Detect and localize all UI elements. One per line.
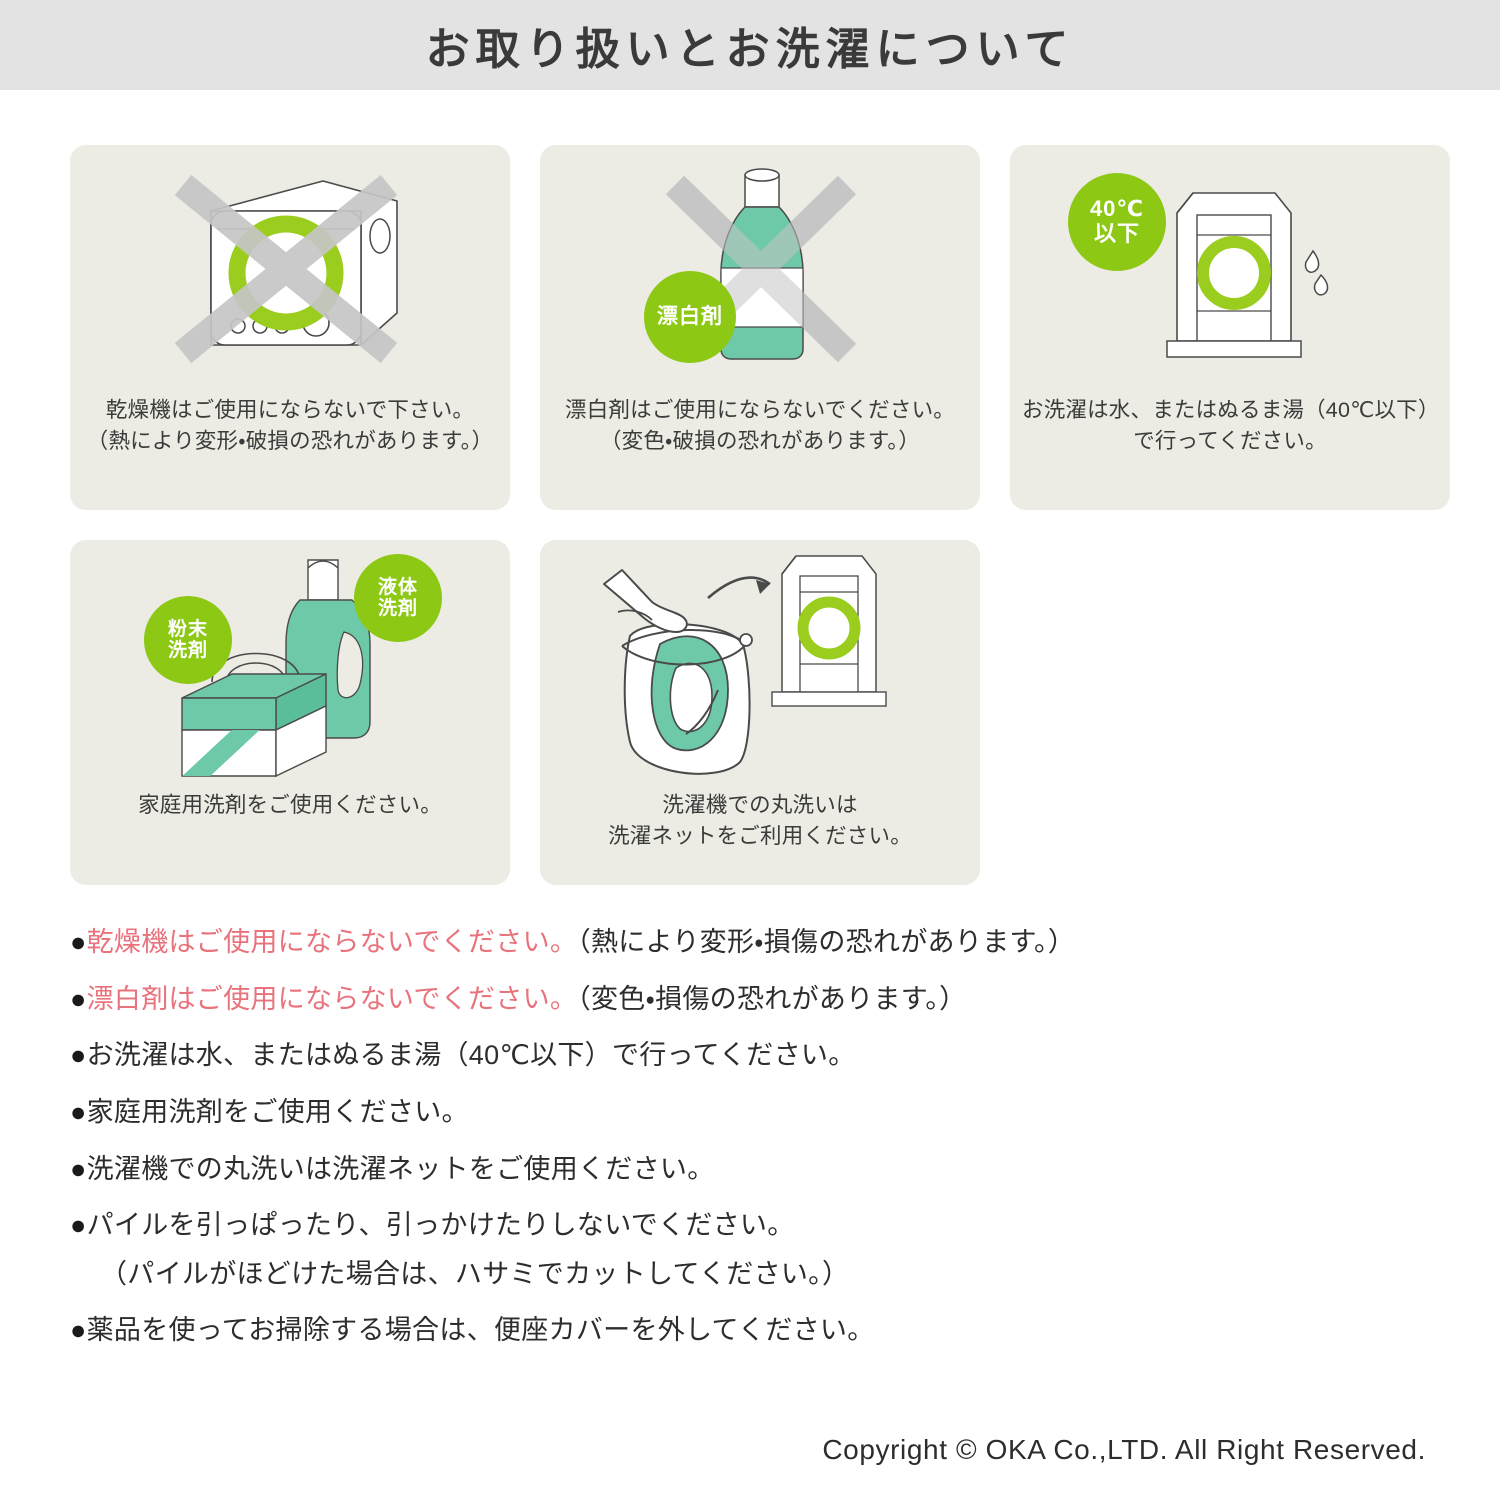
caption-line: お洗濯は水、またはぬるま湯（40℃以下） bbox=[1022, 395, 1438, 426]
badge-line: 洗剤 bbox=[168, 640, 208, 661]
bleach-bottle-crossed-out-icon: 漂白剤 bbox=[540, 145, 980, 395]
caption-line: 洗濯機での丸洗いは bbox=[608, 790, 912, 821]
list-item: ●漂白剤はご使用にならないでください。（変色・損傷の恐れがあります。） bbox=[70, 982, 1430, 1018]
bullet-dot: ● bbox=[70, 1315, 87, 1345]
list-item: ●家庭用洗剤をご使用ください。 bbox=[70, 1095, 1430, 1131]
bullet-warning-text: 乾燥機はご使用にならないでください。 bbox=[87, 927, 578, 957]
bullet-text: お洗濯は水、またはぬるま湯（40℃以下）で行ってください。 bbox=[87, 1040, 856, 1070]
temperature-badge: 40℃ 以下 bbox=[1068, 173, 1166, 271]
card-water-temperature: 40℃ 以下 お洗濯は水、またはぬるま湯（40℃以下） で行ってください。 bbox=[1010, 145, 1450, 510]
card-caption: お洗濯は水、またはぬるま湯（40℃以下） で行ってください。 bbox=[1010, 395, 1450, 457]
card-caption: 漂白剤はご使用にならないでください。 （変色・破損の恐れがあります。） bbox=[553, 395, 967, 457]
bullet-dot: ● bbox=[70, 1154, 87, 1184]
bullet-text: 洗濯機での丸洗いは洗濯ネットをご使用ください。 bbox=[87, 1154, 715, 1184]
bullet-dot: ● bbox=[70, 1040, 87, 1070]
bleach-badge: 漂白剤 bbox=[644, 271, 736, 363]
bullet-dot: ● bbox=[70, 984, 87, 1014]
page-title: お取り扱いとお洗濯について bbox=[426, 13, 1075, 77]
card-caption: 洗濯機での丸洗いは 洗濯ネットをご利用ください。 bbox=[596, 790, 924, 852]
washing-machine-icon: 40℃ 以下 bbox=[1010, 145, 1450, 395]
caption-line: で行ってください。 bbox=[1022, 426, 1438, 457]
badge-line: 粉末 bbox=[168, 619, 208, 640]
bullet-dot: ● bbox=[70, 1210, 87, 1240]
list-item: ●薬品を使ってお掃除する場合は、便座カバーを外してください。 bbox=[70, 1313, 1430, 1349]
bullet-warning-text: 漂白剤はご使用にならないでください。 bbox=[87, 984, 578, 1014]
copyright-footer: Copyright © OKA Co.,LTD. All Right Reser… bbox=[822, 1434, 1426, 1466]
page-header: お取り扱いとお洗濯について bbox=[0, 0, 1500, 90]
bullet-dot: ● bbox=[70, 1097, 87, 1127]
bullet-text: 薬品を使ってお掃除する場合は、便座カバーを外してください。 bbox=[87, 1315, 875, 1345]
badge-line: 液体 bbox=[378, 577, 418, 598]
caption-line: （熱により変形・破損の恐れがあります。） bbox=[87, 426, 493, 457]
caption-line: 漂白剤はご使用にならないでください。 bbox=[565, 395, 955, 426]
card-laundry-net: 洗濯機での丸洗いは 洗濯ネットをご利用ください。 bbox=[540, 540, 980, 885]
list-item: ●洗濯機での丸洗いは洗濯ネットをご使用ください。 bbox=[70, 1152, 1430, 1188]
laundry-net-into-washer-icon bbox=[540, 540, 980, 790]
card-caption: 乾燥機はご使用にならないで下さい。 （熱により変形・破損の恐れがあります。） bbox=[75, 395, 505, 457]
care-instruction-list: ●乾燥機はご使用にならないでください。（熱により変形・損傷の恐れがあります。） … bbox=[0, 925, 1500, 1349]
bullet-dot: ● bbox=[70, 927, 87, 957]
badge-line: 40℃ bbox=[1090, 197, 1144, 222]
bullet-note-text: （変色・損傷の恐れがあります。） bbox=[577, 984, 966, 1014]
list-item: ●乾燥機はご使用にならないでください。（熱により変形・損傷の恐れがあります。） bbox=[70, 925, 1430, 961]
bullet-subline: （パイルがほどけた場合は、ハサミでカットしてください。） bbox=[100, 1257, 1430, 1293]
detergent-box-and-bottle-icon: 粉末 洗剤 液体 洗剤 bbox=[70, 540, 510, 780]
care-icon-grid: 乾燥機はご使用にならないで下さい。 （熱により変形・破損の恐れがあります。） bbox=[0, 145, 1500, 885]
list-item: ●パイルを引っぱったり、引っかけたりしないでください。 bbox=[70, 1208, 1430, 1244]
bullet-text: 家庭用洗剤をご使用ください。 bbox=[87, 1097, 469, 1127]
bullet-note-text: （熱により変形・損傷の恐れがあります。） bbox=[577, 927, 1075, 957]
caption-line: （変色・破損の恐れがあります。） bbox=[565, 426, 955, 457]
card-household-detergent: 粉末 洗剤 液体 洗剤 家庭用洗剤をご使用ください。 bbox=[70, 540, 510, 885]
caption-line: 乾燥機はご使用にならないで下さい。 bbox=[87, 395, 493, 426]
card-no-dryer: 乾燥機はご使用にならないで下さい。 （熱により変形・破損の恐れがあります。） bbox=[70, 145, 510, 510]
bullet-text: パイルを引っぱったり、引っかけたりしないでください。 bbox=[87, 1210, 795, 1240]
powder-detergent-badge: 粉末 洗剤 bbox=[144, 596, 232, 684]
card-caption: 家庭用洗剤をご使用ください。 bbox=[126, 790, 454, 821]
badge-line: 以下 bbox=[1094, 222, 1140, 247]
liquid-detergent-badge: 液体 洗剤 bbox=[354, 554, 442, 642]
care-instructions-page: お取り扱いとお洗濯について bbox=[0, 0, 1500, 1500]
badge-line: 洗剤 bbox=[378, 598, 418, 619]
card-no-bleach: 漂白剤 漂白剤はご使用にならないでください。 （変色・破損の恐れがあります。） bbox=[540, 145, 980, 510]
list-item: ●お洗濯は水、またはぬるま湯（40℃以下）で行ってください。 bbox=[70, 1038, 1430, 1074]
badge-line: 漂白剤 bbox=[657, 305, 723, 329]
caption-line: 洗濯ネットをご利用ください。 bbox=[608, 821, 912, 852]
dryer-crossed-out-icon bbox=[70, 145, 510, 395]
caption-line: 家庭用洗剤をご使用ください。 bbox=[138, 790, 442, 821]
